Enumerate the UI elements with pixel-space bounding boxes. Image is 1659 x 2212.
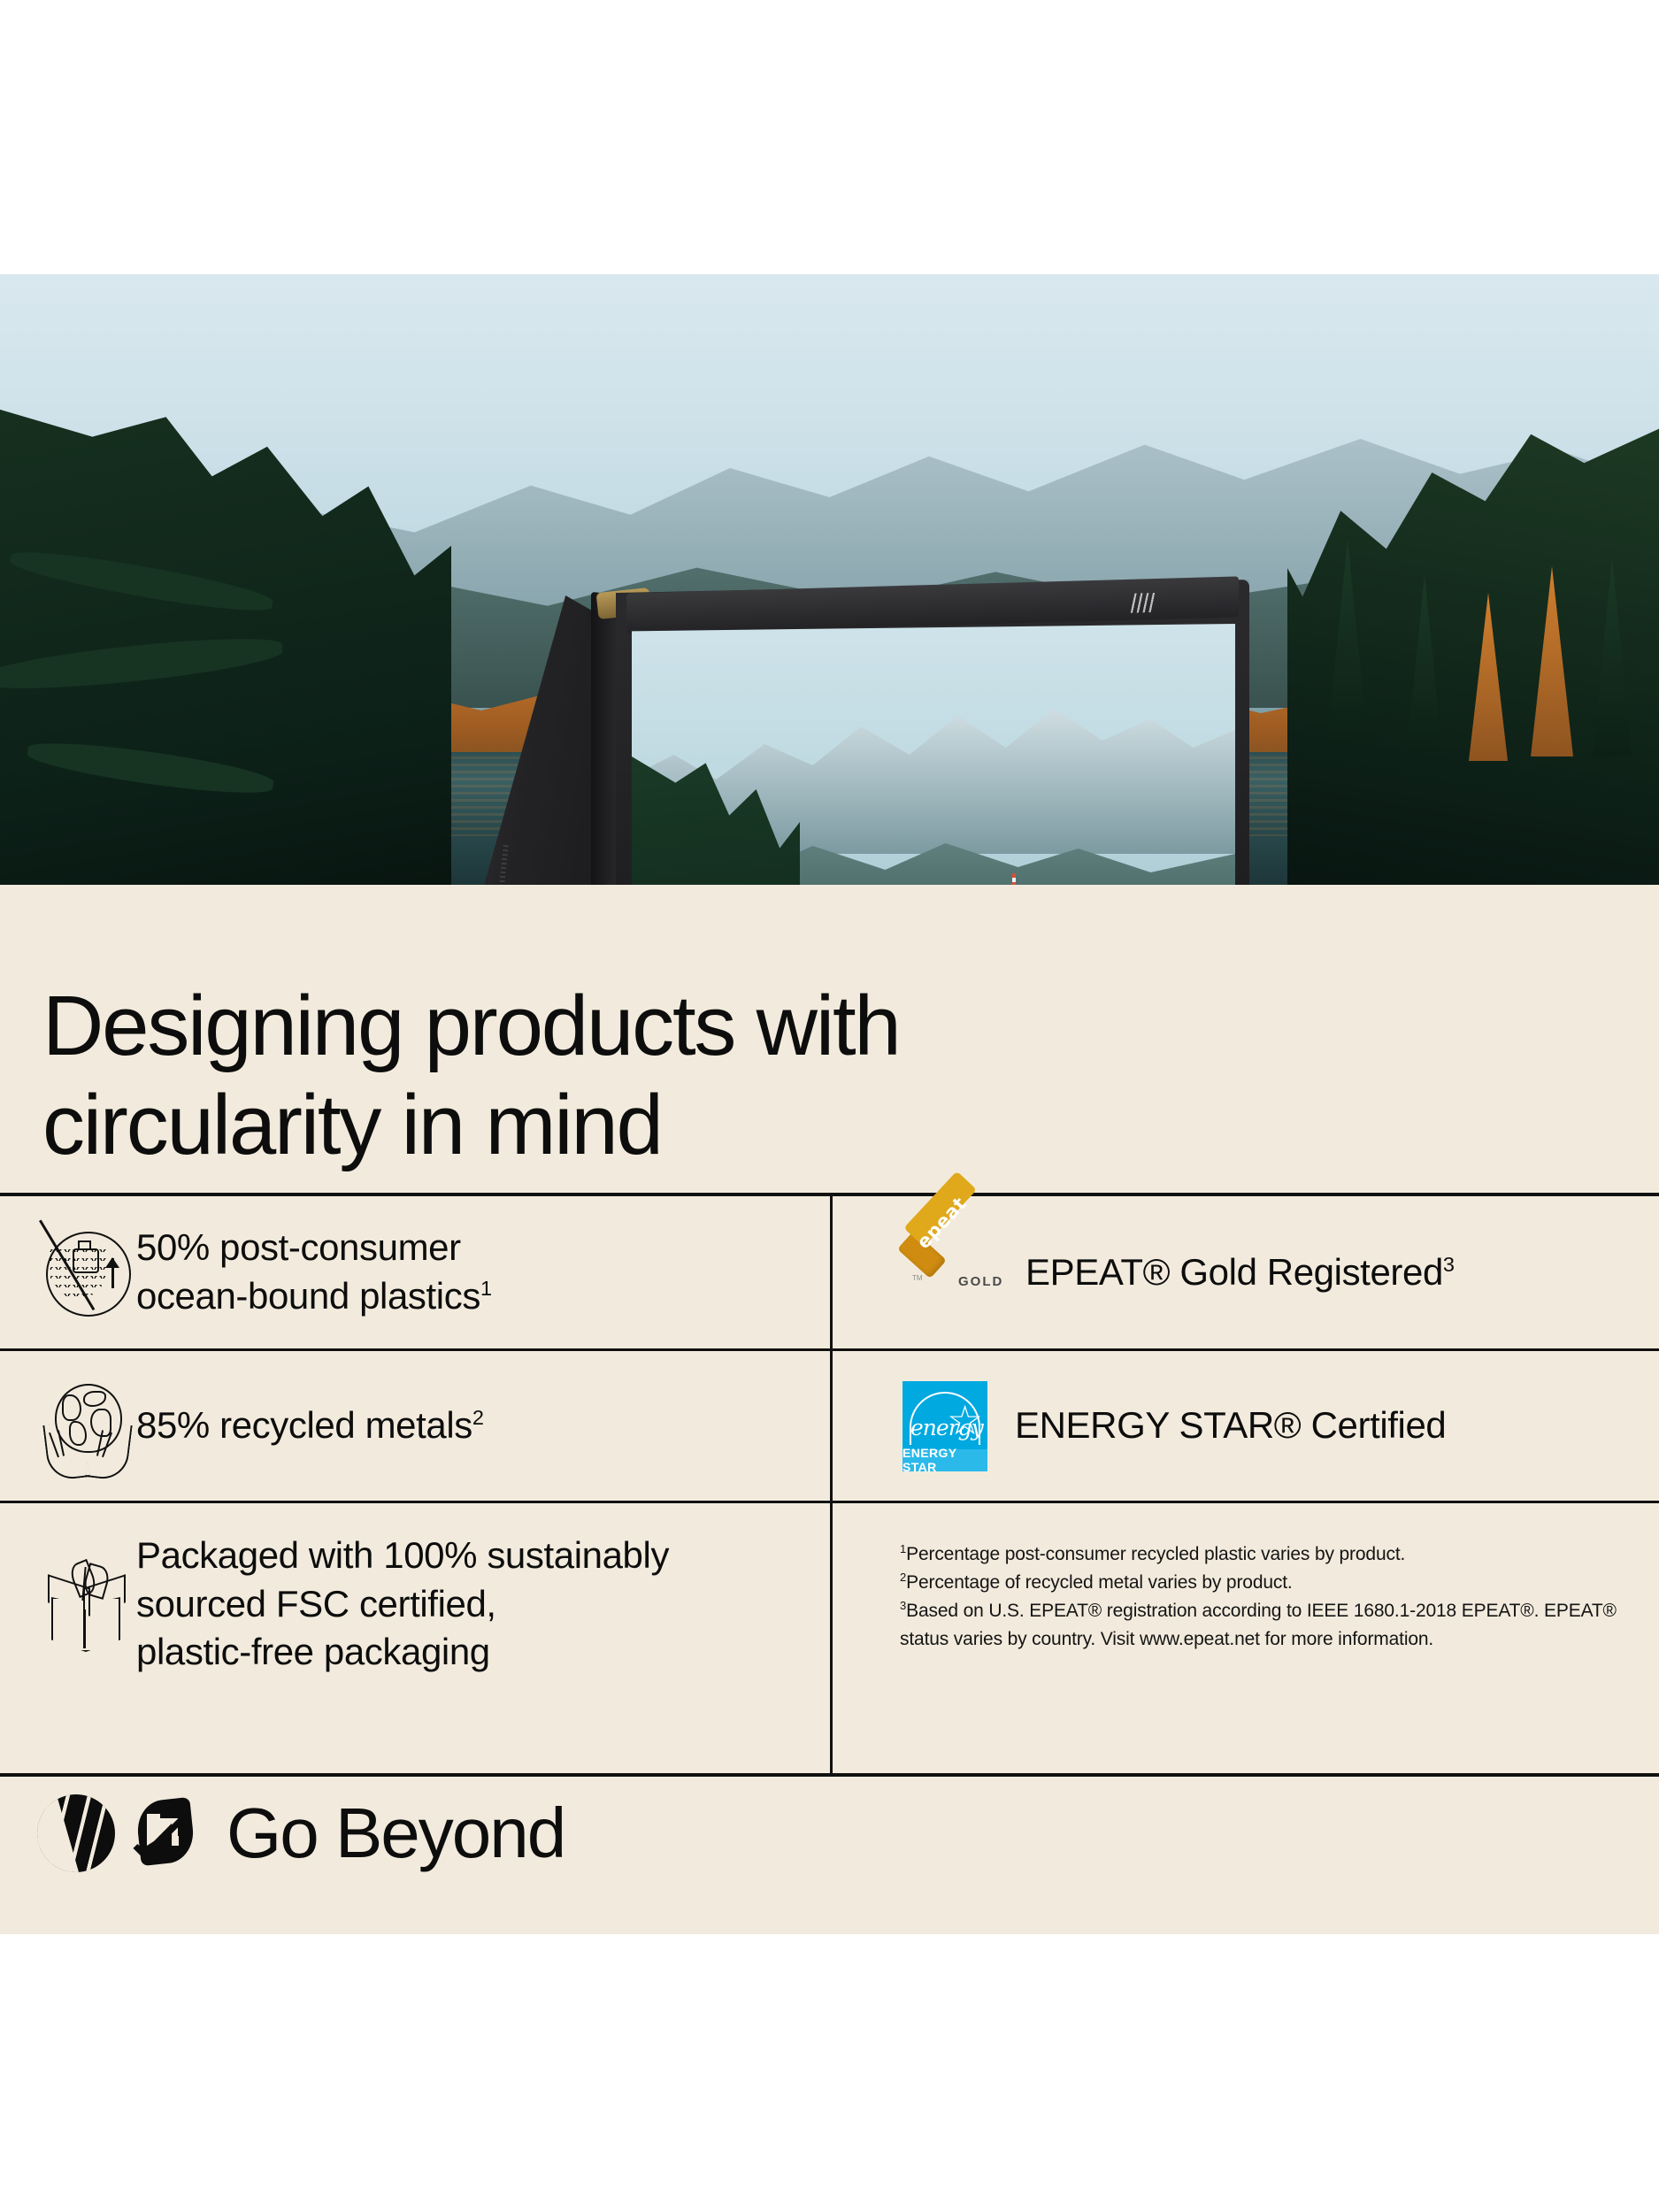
feature-label: 85% recycled metals2	[136, 1402, 484, 1450]
feature-label: 50% post-consumer ocean-bound plastics1	[136, 1224, 492, 1320]
content-panel: Designing products with circularity in m…	[0, 885, 1659, 1934]
page-title: Designing products with circularity in m…	[42, 977, 1370, 1174]
feature-label: EPEAT® Gold Registered3	[1025, 1248, 1455, 1297]
feature-text: 85% recycled metals	[136, 1404, 472, 1446]
feature-line-2: sourced FSC certified,	[136, 1583, 496, 1624]
headline-line-1: Designing products with	[42, 979, 900, 1073]
feature-label: ENERGY STAR® Certified	[1015, 1402, 1446, 1450]
feature-ocean-bound-plastics: 50% post-consumer ocean-bound plastics1	[0, 1196, 830, 1348]
footnote-item: 2Percentage of recycled metal varies by …	[900, 1569, 1634, 1597]
hp-logo	[37, 1794, 115, 1872]
brand-footer: Go Beyond	[37, 1794, 565, 1872]
feature-epeat-gold: epeat TM GOLD EPEAT® Gold Registered3	[833, 1196, 1659, 1348]
laptop-lid-rear	[432, 595, 618, 885]
footnote-item: 1Percentage post-consumer recycled plast…	[900, 1540, 1634, 1569]
feature-text: EPEAT® Gold Registered	[1025, 1251, 1443, 1293]
feature-line-2: ocean-bound plastics	[136, 1275, 480, 1317]
epeat-gold-logo: epeat TM GOLD	[900, 1223, 1015, 1322]
feature-line-3: plastic-free packaging	[136, 1631, 490, 1672]
hero-product-photo	[0, 274, 1659, 885]
screen-pylon	[1012, 873, 1016, 885]
footnote-marker: 1	[480, 1277, 492, 1300]
globe-in-hands-icon	[37, 1377, 136, 1476]
footnote-item: 3Based on U.S. EPEAT® registration accor…	[900, 1597, 1634, 1654]
ocean-bound-plastics-icon	[37, 1223, 136, 1322]
laptop-device	[416, 580, 1256, 885]
headline-line-2: circularity in mind	[42, 1076, 1370, 1174]
brand-tagline: Go Beyond	[227, 1798, 565, 1869]
footnote-text: Based on U.S. EPEAT® registration accord…	[900, 1601, 1617, 1649]
feature-line-1: 50% post-consumer	[136, 1226, 461, 1268]
energy-star-logo: energy ☆ ENERGY STAR	[900, 1377, 999, 1476]
footnote-text: Percentage post-consumer recycled plasti…	[906, 1544, 1405, 1564]
hp-badge-icon	[1127, 593, 1161, 613]
footnote-marker: 2	[472, 1406, 484, 1429]
sustainability-feature-grid: 50% post-consumer ocean-bound plastics1 …	[0, 1193, 1659, 1777]
epeat-trademark-mark: TM	[912, 1274, 923, 1282]
marketing-panel: Designing products with circularity in m…	[0, 0, 1659, 2212]
feature-energy-star: energy ☆ ENERGY STAR ENERGY STAR® Certif…	[833, 1351, 1659, 1501]
package-with-leaves-icon	[37, 1558, 136, 1657]
footnote-text: Percentage of recycled metal varies by p…	[906, 1572, 1293, 1593]
star-icon: ☆	[947, 1402, 984, 1440]
energy-star-bar: ENERGY STAR	[902, 1449, 987, 1471]
footnote-marker: 3	[1443, 1253, 1455, 1276]
epeat-tier-label: GOLD	[958, 1274, 1003, 1289]
leaf-arrow-logo	[131, 1794, 202, 1872]
feature-label: Packaged with 100% sustainably sourced F…	[136, 1532, 669, 1677]
laptop-screen-wallpaper	[632, 624, 1235, 885]
feature-line-1: Packaged with 100% sustainably	[136, 1534, 669, 1576]
footnotes-block: 1Percentage post-consumer recycled plast…	[833, 1503, 1659, 1780]
footnote-list: 1Percentage post-consumer recycled plast…	[900, 1540, 1634, 1654]
feature-recycled-metals: 85% recycled metals2	[0, 1351, 830, 1501]
energy-star-bar-label: ENERGY STAR	[902, 1446, 987, 1474]
feature-fsc-packaging: Packaged with 100% sustainably sourced F…	[0, 1503, 830, 1780]
